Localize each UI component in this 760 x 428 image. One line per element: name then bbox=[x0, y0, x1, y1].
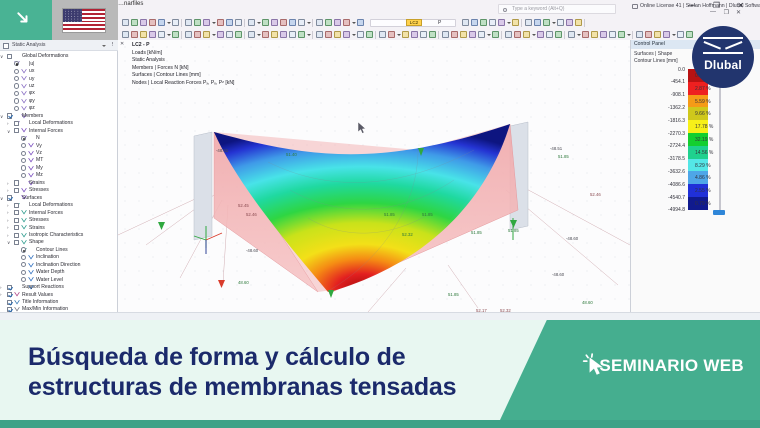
tree-item-checkbox[interactable] bbox=[14, 121, 19, 126]
toolbar-button[interactable] bbox=[478, 31, 485, 38]
toolbar-separator bbox=[181, 19, 182, 27]
tree-item-label: Strains bbox=[29, 180, 45, 186]
load-case-suffix: P bbox=[438, 20, 441, 26]
model-viewport[interactable]: ✕ LC2 - P Loads [kN/m] Static Analysis M… bbox=[118, 40, 630, 320]
toolbar-button[interactable] bbox=[172, 31, 179, 38]
chevron-down-icon[interactable] bbox=[487, 34, 491, 36]
toolbar-button[interactable] bbox=[149, 31, 156, 38]
toolbar-button[interactable] bbox=[194, 19, 201, 26]
toolbar-button[interactable] bbox=[235, 19, 242, 26]
toolbar-button[interactable] bbox=[379, 31, 386, 38]
overlay-flag-box bbox=[0, 0, 118, 40]
toolbar-button[interactable] bbox=[158, 19, 165, 26]
tree-item-label: φx bbox=[29, 90, 35, 96]
toolbar-button[interactable] bbox=[149, 19, 156, 26]
tree-item-label: Vy bbox=[36, 143, 42, 149]
chevron-down-icon[interactable] bbox=[102, 45, 106, 47]
toolbar-button[interactable] bbox=[591, 31, 598, 38]
tree-item-radio[interactable] bbox=[14, 106, 19, 111]
toolbar-separator bbox=[564, 31, 565, 39]
color-scale-percentage: 0.79 % bbox=[695, 201, 711, 207]
tree-item-label: φz bbox=[29, 105, 35, 111]
result-label: 52.45 bbox=[238, 203, 249, 208]
tree-item-label: Water Level bbox=[36, 277, 63, 283]
chevron-down-icon[interactable] bbox=[507, 22, 511, 24]
membrane-structure-model bbox=[118, 40, 630, 320]
toolbar-button[interactable] bbox=[185, 19, 192, 26]
tree-item-label: Internal Forces bbox=[29, 128, 63, 134]
toolbar-button[interactable] bbox=[280, 31, 287, 38]
tree-item-checkbox[interactable] bbox=[7, 113, 12, 118]
arrow-down-right-icon bbox=[16, 11, 30, 25]
color-scale-value: -2270.3 bbox=[668, 131, 685, 137]
toolbar-button[interactable] bbox=[492, 31, 499, 38]
toolbar-button[interactable] bbox=[194, 31, 201, 38]
toolbar-button[interactable] bbox=[462, 19, 469, 26]
toolbar-button[interactable] bbox=[217, 31, 224, 38]
toolbar-button[interactable] bbox=[248, 19, 255, 26]
tree-item-checkbox[interactable] bbox=[14, 180, 19, 185]
chevron-right-icon[interactable]: › bbox=[7, 181, 9, 186]
chevron-right-icon[interactable]: › bbox=[0, 292, 2, 297]
result-label: 51.85 bbox=[471, 230, 482, 235]
tree-item-radio[interactable] bbox=[14, 91, 19, 96]
mouse-cursor bbox=[358, 122, 367, 134]
document-filename: …narfiles bbox=[118, 1, 143, 7]
toolbar-button[interactable] bbox=[442, 31, 449, 38]
tree-item-radio[interactable] bbox=[14, 83, 19, 88]
color-scale-value: -1362.2 bbox=[668, 105, 685, 111]
tree-item-checkbox[interactable] bbox=[14, 218, 19, 223]
color-scale-percentage: 14.56 % bbox=[695, 150, 713, 156]
toolbar-button[interactable] bbox=[334, 19, 341, 26]
toolbar-button[interactable] bbox=[654, 31, 661, 38]
tree-item-checkbox[interactable] bbox=[14, 225, 19, 230]
result-label: 48.60 bbox=[238, 280, 249, 285]
tree-item-checkbox[interactable] bbox=[14, 188, 19, 193]
toolbar-button[interactable] bbox=[226, 19, 233, 26]
tree-item-label: MT bbox=[36, 157, 43, 163]
toolbar-button[interactable] bbox=[402, 31, 409, 38]
color-scale-value: -1816.3 bbox=[668, 118, 685, 124]
toolbar-button[interactable] bbox=[460, 31, 467, 38]
toolbar-button[interactable] bbox=[575, 19, 582, 26]
banner-title-line1: Búsqueda de forma y cálculo de bbox=[28, 342, 498, 372]
overlay-green-tile bbox=[0, 0, 52, 40]
toolbar-button[interactable] bbox=[686, 31, 693, 38]
toolbar-separator bbox=[521, 19, 522, 27]
toolbar-button[interactable] bbox=[122, 31, 129, 38]
tree-item-label: My bbox=[36, 165, 43, 171]
result-label: -48.60 bbox=[566, 236, 578, 241]
tree-item-label: Local Deformations bbox=[29, 120, 73, 126]
tree-item-radio[interactable] bbox=[21, 165, 26, 170]
toolbar-button[interactable] bbox=[316, 31, 323, 38]
color-scale-percentage: 2.87 % bbox=[695, 86, 711, 92]
tree-item-radio[interactable] bbox=[14, 69, 19, 74]
toolbar-button[interactable] bbox=[172, 19, 179, 26]
toolbar-button[interactable] bbox=[334, 31, 341, 38]
toolbar-button[interactable] bbox=[645, 31, 652, 38]
toolbar-button[interactable] bbox=[582, 31, 589, 38]
result-label: -48.60 bbox=[552, 272, 564, 277]
chevron-right-icon[interactable]: › bbox=[7, 188, 9, 193]
toolbar-button[interactable] bbox=[289, 31, 296, 38]
toolbar-button[interactable] bbox=[203, 19, 210, 26]
toolbar-button[interactable] bbox=[546, 31, 553, 38]
chevron-down-icon[interactable] bbox=[577, 34, 581, 36]
tree-item-checkbox[interactable] bbox=[14, 128, 19, 133]
result-label: -48.51 bbox=[216, 148, 228, 153]
tree-item-radio[interactable] bbox=[14, 98, 19, 103]
chevron-right-icon[interactable]: › bbox=[7, 218, 9, 223]
toolbar-button[interactable] bbox=[618, 31, 625, 38]
color-scale-value: -2724.4 bbox=[668, 143, 685, 149]
toolbar-button[interactable] bbox=[366, 31, 373, 38]
tree-item-radio[interactable] bbox=[21, 158, 26, 163]
tree-item-label: Stresses bbox=[29, 217, 49, 223]
tree-item-radio[interactable] bbox=[21, 136, 26, 141]
status-bar bbox=[0, 312, 760, 320]
tree-item-radio[interactable] bbox=[21, 270, 26, 275]
result-label: 51.85 bbox=[422, 212, 433, 217]
chevron-down-icon[interactable] bbox=[552, 22, 556, 24]
toolbar-button[interactable] bbox=[131, 19, 138, 26]
chevron-down-icon[interactable] bbox=[307, 34, 311, 36]
document-minimize-button[interactable]: — bbox=[710, 9, 716, 15]
control-panel-subtitle-line1: Surfaces | Shape bbox=[634, 51, 678, 58]
toolbar-button[interactable] bbox=[609, 31, 616, 38]
banner-title: Búsqueda de forma y cálculo de estructur… bbox=[28, 342, 498, 402]
color-scale-value: -908.1 bbox=[671, 92, 685, 98]
toolbar-separator bbox=[244, 31, 245, 39]
color-scale-percentage: 9.66 % bbox=[695, 111, 711, 117]
toolbar-button[interactable] bbox=[248, 31, 255, 38]
tree-item-radio[interactable] bbox=[14, 76, 19, 81]
color-scale-value: -454.1 bbox=[671, 79, 685, 85]
color-scale-value: -4086.6 bbox=[668, 182, 685, 188]
toolbar-button[interactable] bbox=[557, 19, 564, 26]
color-scale-percentage: 2.55 % bbox=[695, 188, 711, 194]
toolbar-button[interactable] bbox=[523, 31, 530, 38]
color-scale-value: -3632.6 bbox=[668, 169, 685, 175]
result-label: 51.85 bbox=[384, 212, 395, 217]
toolbar-button[interactable] bbox=[271, 31, 278, 38]
toolbar-button[interactable] bbox=[298, 19, 305, 26]
toolbar-separator bbox=[438, 31, 439, 39]
tree-item-label: Vz bbox=[36, 150, 42, 156]
navigator-header[interactable]: Static Analysis ⠇ bbox=[0, 40, 118, 51]
toolbar-separator bbox=[584, 19, 585, 27]
chevron-down-icon[interactable] bbox=[212, 34, 216, 36]
chevron-down-icon[interactable] bbox=[627, 34, 631, 36]
result-label: 52.46 bbox=[590, 192, 601, 197]
tree-item-checkbox[interactable] bbox=[7, 300, 12, 305]
chevron-down-icon[interactable] bbox=[257, 22, 261, 24]
chevron-down-icon[interactable] bbox=[352, 34, 356, 36]
toolbar-button[interactable] bbox=[203, 31, 210, 38]
tree-item-label: Contour Lines bbox=[36, 247, 68, 253]
search-icon bbox=[503, 8, 507, 12]
chevron-right-icon[interactable]: › bbox=[7, 203, 9, 208]
toolbar-button[interactable] bbox=[600, 31, 607, 38]
tree-item-radio[interactable] bbox=[21, 151, 26, 156]
webinar-banner: Búsqueda de forma y cálculo de estructur… bbox=[0, 320, 760, 428]
tree-item-label: Isotropic Characteristics bbox=[29, 232, 83, 238]
document-maximize-button[interactable]: ❐ bbox=[724, 9, 729, 16]
toolbar-button[interactable] bbox=[514, 31, 521, 38]
result-label: -48.51 bbox=[550, 146, 562, 151]
dlubal-logo-badge: Dlubal bbox=[692, 26, 754, 88]
tree-item-label: |u| bbox=[29, 61, 34, 67]
toolbar-button[interactable] bbox=[343, 31, 350, 38]
tree-item-label: Global Deformations bbox=[22, 53, 68, 59]
toolbar-button[interactable] bbox=[555, 31, 562, 38]
tree-item-checkbox[interactable] bbox=[14, 210, 19, 215]
screenshot-root: …narfiles Type a keyword (Alt+Q) Online … bbox=[0, 0, 760, 428]
tree-item-radio[interactable] bbox=[21, 173, 26, 178]
result-label: -48.60 bbox=[246, 248, 258, 253]
toolbar-button[interactable] bbox=[411, 31, 418, 38]
toolbar-button[interactable] bbox=[357, 19, 364, 26]
toolbar-button[interactable] bbox=[498, 19, 505, 26]
tree-item-checkbox[interactable] bbox=[7, 292, 12, 297]
banner-cta-label: SEMINARIO WEB bbox=[599, 356, 744, 376]
tree-item-checkbox[interactable] bbox=[7, 285, 12, 290]
tree-item-checkbox[interactable] bbox=[14, 233, 19, 238]
tree-item-label: uy bbox=[29, 76, 34, 82]
tree-item-label: N bbox=[36, 135, 40, 141]
color-scale-value: -4994.8 bbox=[668, 207, 685, 213]
chevron-down-icon[interactable] bbox=[307, 22, 311, 24]
tree-item-label: Result Values bbox=[22, 292, 53, 298]
scale-slider-track[interactable] bbox=[719, 72, 721, 212]
tree-item-radio[interactable] bbox=[21, 277, 26, 282]
toolbar-button[interactable] bbox=[289, 19, 296, 26]
toolbar-button[interactable] bbox=[235, 31, 242, 38]
license-icon bbox=[632, 4, 638, 9]
tree-item-label: Shape bbox=[29, 239, 44, 245]
analysis-icon bbox=[3, 43, 9, 49]
chevron-right-icon[interactable]: › bbox=[7, 225, 9, 230]
toolbar-secondary bbox=[118, 29, 760, 40]
toolbar-button[interactable] bbox=[471, 19, 478, 26]
color-scale-value: -4540.7 bbox=[668, 195, 685, 201]
toolbar-button[interactable] bbox=[566, 19, 573, 26]
toolbar-button[interactable] bbox=[568, 31, 575, 38]
search-placeholder: Type a keyword (Alt+Q) bbox=[512, 6, 564, 12]
toolbar-button[interactable] bbox=[131, 31, 138, 38]
toolbar-button[interactable] bbox=[226, 31, 233, 38]
result-label: 51.85 bbox=[508, 228, 519, 233]
tree-item-checkbox[interactable] bbox=[7, 54, 12, 59]
document-close-button[interactable]: ✕ bbox=[736, 9, 741, 16]
toolbar-button[interactable] bbox=[140, 31, 147, 38]
control-panel-subtitle: Surfaces | Shape Contour Lines [mm] bbox=[634, 51, 678, 64]
toolbar-button[interactable] bbox=[420, 31, 427, 38]
chevron-down-icon[interactable] bbox=[212, 22, 216, 24]
navigator-panel: Static Analysis ⠇ ∨Global Deformations|u… bbox=[0, 40, 118, 320]
toolbar-button[interactable] bbox=[677, 31, 684, 38]
chevron-down-icon[interactable] bbox=[397, 34, 401, 36]
color-scale-percentage: 8.29 % bbox=[695, 163, 711, 169]
scale-slider-handle[interactable] bbox=[713, 210, 725, 215]
color-scale-value: -3178.5 bbox=[668, 156, 685, 162]
banner-title-line2: estructuras de membranas tensadas bbox=[28, 372, 498, 402]
tree-item-label: Mz bbox=[36, 172, 43, 178]
toolbar-button[interactable] bbox=[451, 31, 458, 38]
navigator-selected-analysis: Static Analysis bbox=[12, 42, 45, 48]
chevron-right-icon[interactable]: › bbox=[0, 285, 2, 290]
flag-canton bbox=[63, 9, 82, 22]
tree-item-label: φy bbox=[29, 98, 35, 104]
toolbar-button[interactable] bbox=[325, 31, 332, 38]
toolbar-button[interactable] bbox=[298, 31, 305, 38]
toolbar-button[interactable] bbox=[217, 19, 224, 26]
tree-item-label: Members bbox=[22, 113, 43, 119]
navigator-menu-icon[interactable]: ⠇ bbox=[111, 42, 115, 48]
tree-item-label: Surfaces bbox=[22, 195, 42, 201]
result-label: 51.40 bbox=[286, 152, 297, 157]
tree-item-radio[interactable] bbox=[21, 262, 26, 267]
tree-item-label: Local Deformations bbox=[29, 202, 73, 208]
tree-item-label: Support Reactions bbox=[22, 284, 64, 290]
chevron-down-icon[interactable] bbox=[672, 34, 676, 36]
result-label: 51.85 bbox=[558, 154, 569, 159]
toolbar-button[interactable] bbox=[537, 31, 544, 38]
tree-item-radio[interactable] bbox=[21, 143, 26, 148]
load-case-badge: LC2 bbox=[406, 19, 422, 26]
toolbar-button[interactable] bbox=[316, 19, 323, 26]
tree-item-radio[interactable] bbox=[21, 255, 26, 260]
toolbar-button[interactable] bbox=[534, 19, 541, 26]
flag-stars bbox=[63, 9, 82, 22]
toolbar-separator bbox=[244, 19, 245, 27]
chevron-down-icon[interactable] bbox=[167, 34, 171, 36]
tree-item-label: Internal Forces bbox=[29, 210, 63, 216]
toolbar-button[interactable] bbox=[343, 19, 350, 26]
toolbar-button[interactable] bbox=[122, 19, 129, 26]
result-label: 48.60 bbox=[582, 300, 593, 305]
toolbar-button[interactable] bbox=[543, 19, 550, 26]
tree-item-label: Inclination Direction bbox=[36, 262, 80, 268]
toolbar-primary: LC2P bbox=[118, 17, 760, 29]
tree-item-label: Strains bbox=[29, 225, 45, 231]
toolbar-button[interactable] bbox=[158, 31, 165, 38]
color-scale-percentage: 4.86 % bbox=[695, 175, 711, 181]
toolbar-button[interactable] bbox=[357, 31, 364, 38]
toolbar-separator bbox=[312, 19, 313, 27]
toolbar-button[interactable] bbox=[469, 31, 476, 38]
tree-item-label: Inclination bbox=[36, 254, 59, 260]
toolbar-button[interactable] bbox=[280, 19, 287, 26]
chevron-down-icon[interactable] bbox=[257, 34, 261, 36]
chevron-right-icon[interactable]: › bbox=[7, 233, 9, 238]
tree-item-label: Stresses bbox=[29, 187, 49, 193]
toolbar-button[interactable] bbox=[429, 31, 436, 38]
chevron-right-icon[interactable]: › bbox=[7, 121, 9, 126]
banner-bottom-strip bbox=[0, 420, 760, 428]
tree-item-label: ux bbox=[29, 68, 34, 74]
result-label: 52.32 bbox=[402, 232, 413, 237]
chevron-down-icon[interactable] bbox=[352, 22, 356, 24]
toolbar-separator bbox=[312, 31, 313, 39]
tree-item-radio[interactable] bbox=[21, 247, 26, 252]
tree-item-checkbox[interactable] bbox=[14, 240, 19, 245]
color-scale-value: 0.0 bbox=[678, 67, 685, 73]
window-minimize-button[interactable]: — bbox=[688, 1, 696, 11]
color-scale-percentage: 32.19 % bbox=[695, 137, 713, 143]
control-panel-title: Control Panel bbox=[634, 41, 665, 47]
result-label: 51.85 bbox=[448, 292, 459, 297]
toolbar-separator bbox=[632, 31, 633, 39]
toolbar-button[interactable] bbox=[262, 31, 269, 38]
tree-item-radio[interactable] bbox=[14, 61, 19, 66]
toolbar-button[interactable] bbox=[525, 19, 532, 26]
toolbar-separator bbox=[501, 31, 502, 39]
toolbar-button[interactable] bbox=[271, 19, 278, 26]
toolbar-button[interactable] bbox=[512, 19, 519, 26]
tree-item-label: Water Depth bbox=[36, 269, 64, 275]
tree-item-label: Title Information bbox=[22, 299, 58, 305]
dlubal-bridge-icon bbox=[703, 37, 743, 54]
toolbar-button[interactable] bbox=[480, 19, 487, 26]
chevron-right-icon[interactable]: › bbox=[7, 210, 9, 215]
control-panel-subtitle-line2: Contour Lines [mm] bbox=[634, 58, 678, 65]
toolbar-button[interactable] bbox=[185, 31, 192, 38]
color-scale-percentage: 5.59 % bbox=[695, 99, 711, 105]
toolbar-button[interactable] bbox=[505, 31, 512, 38]
chevron-down-icon[interactable] bbox=[532, 34, 536, 36]
color-scale-percentage: 17.78 % bbox=[695, 124, 713, 130]
dlubal-wordmark: Dlubal bbox=[692, 58, 754, 72]
result-label: 52.46 bbox=[246, 212, 257, 217]
toolbar-button[interactable] bbox=[663, 31, 670, 38]
rfem-application-window: …narfiles Type a keyword (Alt+Q) Online … bbox=[0, 0, 760, 320]
toolbar-button[interactable] bbox=[388, 31, 395, 38]
toolbar-button[interactable] bbox=[489, 19, 496, 26]
toolbar-separator bbox=[375, 31, 376, 39]
keyword-search-input[interactable]: Type a keyword (Alt+Q) bbox=[498, 4, 616, 14]
toolbar-button[interactable] bbox=[325, 19, 332, 26]
tree-item-label: uz bbox=[29, 83, 34, 89]
toolbar-button[interactable] bbox=[140, 19, 147, 26]
toolbar-separator bbox=[181, 31, 182, 39]
toolbar-button[interactable] bbox=[636, 31, 643, 38]
results-navigator-tree[interactable]: ∨Global Deformations|u|uxuyuzφxφyφz∨Memb… bbox=[0, 52, 118, 320]
us-flag-icon bbox=[62, 8, 106, 33]
chevron-down-icon[interactable] bbox=[167, 22, 171, 24]
tree-item-checkbox[interactable] bbox=[14, 203, 19, 208]
tree-item-checkbox[interactable] bbox=[7, 195, 12, 200]
toolbar-button[interactable] bbox=[262, 19, 269, 26]
